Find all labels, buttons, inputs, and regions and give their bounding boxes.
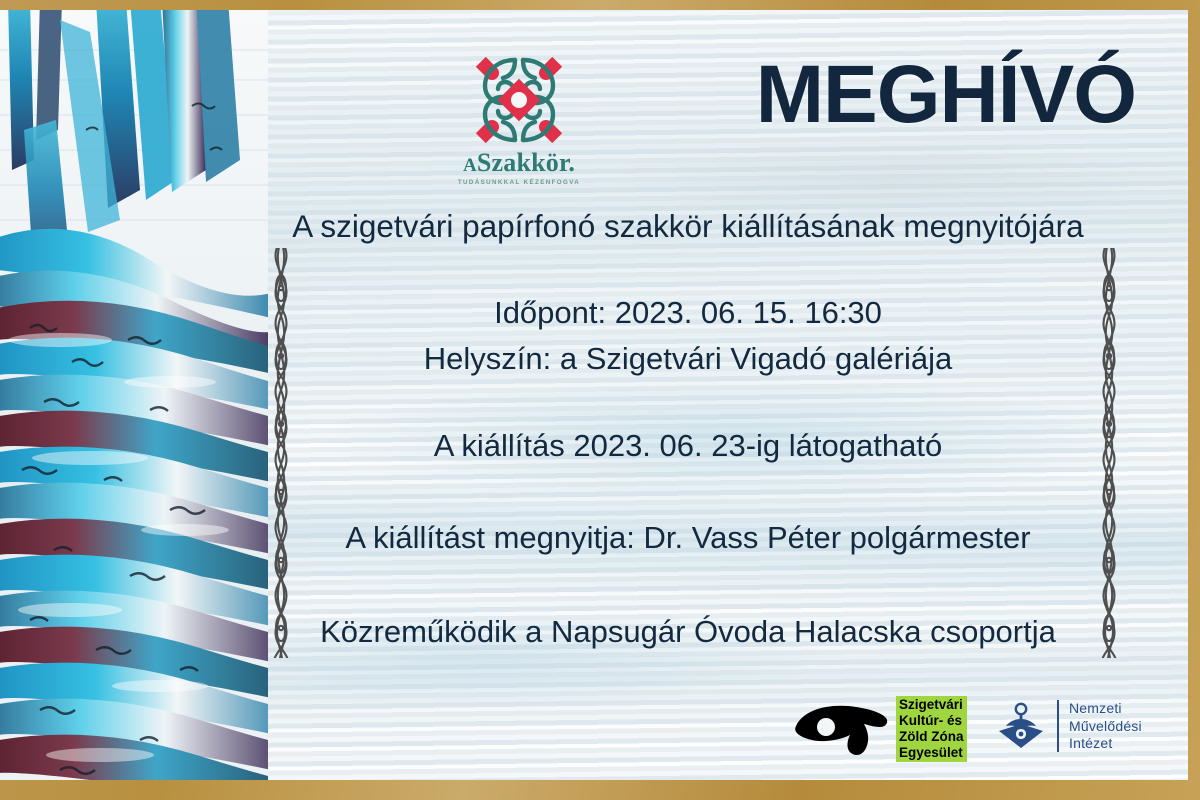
nemzeti-muvelodesi-intezet-logo: Nemzeti Művelődési Intézet bbox=[995, 700, 1142, 753]
logo-wordmark: ASzakkör. bbox=[424, 150, 614, 176]
a-szakkor-logo: ASzakkör. TUDÁSUNKKAL KÉZENFOGVA bbox=[424, 44, 614, 174]
page-title: MEGHÍVÓ bbox=[756, 54, 1136, 136]
poster-canvas: ASzakkör. TUDÁSUNKKAL KÉZENFOGVA MEGHÍVÓ… bbox=[0, 10, 1188, 780]
szakkor-diamond-mark-icon bbox=[463, 44, 575, 156]
eye-icon bbox=[790, 700, 890, 758]
sponsor-logos: Szigetvári Kultúr- és Zöld Zóna Egyesüle… bbox=[790, 696, 1120, 776]
nmi-text-block: Nemzeti Művelődési Intézet bbox=[1069, 700, 1142, 753]
kzz-line-2: Kultúr- és bbox=[899, 713, 964, 729]
event-datetime-line: Időpont: 2023. 06. 15. 16:30 bbox=[268, 295, 1108, 332]
event-venue-line: Helyszín: a Szigetvári Vigadó galériája bbox=[268, 341, 1108, 378]
woven-paper-basket-photo bbox=[0, 10, 268, 780]
logo-tagline: TUDÁSUNKKAL KÉZENFOGVA bbox=[424, 179, 614, 186]
kzz-line-3: Zöld Zóna bbox=[899, 729, 964, 745]
logo-wordmark-a: A bbox=[463, 155, 477, 176]
nmi-emblem-icon bbox=[995, 700, 1047, 752]
nmi-line-3: Intézet bbox=[1069, 735, 1142, 753]
kzz-line-1: Szigetvári bbox=[899, 697, 964, 713]
nmi-divider bbox=[1057, 700, 1059, 752]
logo-wordmark-main: Szakkör. bbox=[477, 148, 575, 177]
photo-artwork bbox=[0, 10, 268, 780]
kzz-line-4: Egyesület bbox=[899, 745, 964, 761]
invitation-poster: ASzakkör. TUDÁSUNKKAL KÉZENFOGVA MEGHÍVÓ… bbox=[0, 0, 1200, 800]
szigetvari-kultur-es-zold-zona-egyesulet-logo: Szigetvári Kultúr- és Zöld Zóna Egyesüle… bbox=[790, 696, 967, 762]
opening-speaker-line: A kiállítást megnyitja: Dr. Vass Péter p… bbox=[268, 520, 1108, 557]
nmi-line-2: Művelődési bbox=[1069, 718, 1142, 736]
kzz-text-block: Szigetvári Kultúr- és Zöld Zóna Egyesüle… bbox=[896, 696, 967, 762]
invitation-subject-line: A szigetvári papírfonó szakkör kiállítás… bbox=[268, 208, 1108, 245]
exhibition-duration-line: A kiállítás 2023. 06. 23-ig látogatható bbox=[268, 428, 1108, 465]
performers-line: Közreműködik a Napsugár Óvoda Halacska c… bbox=[268, 614, 1108, 651]
nmi-line-1: Nemzeti bbox=[1069, 700, 1142, 718]
